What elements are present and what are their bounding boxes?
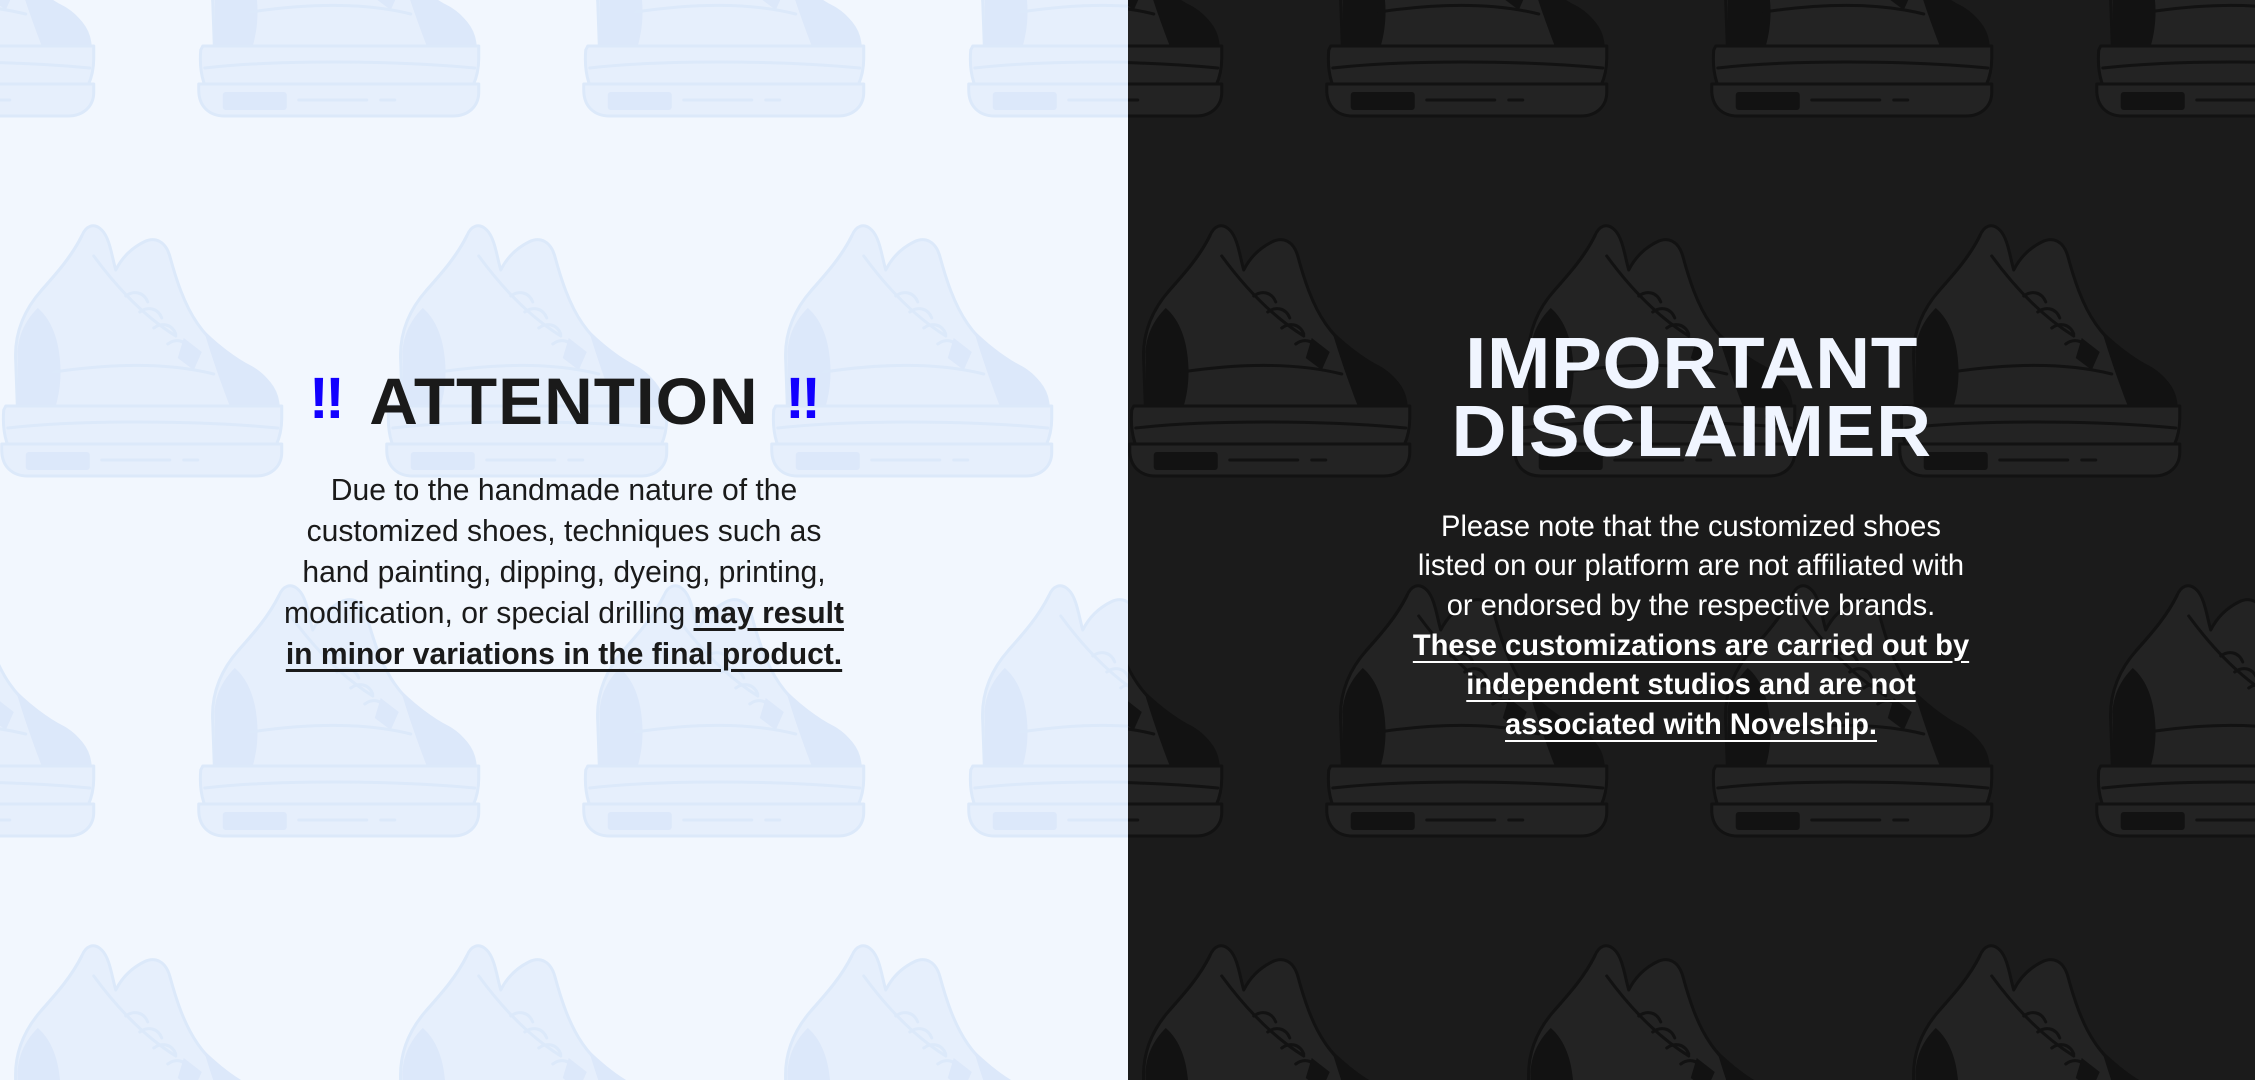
attention-body: Due to the handmade nature of the custom… bbox=[282, 470, 845, 675]
double-exclamation-icon-left: ‼ bbox=[309, 370, 343, 428]
disclaimer-panel: IMPORTANT DISCLAIMER Please note that th… bbox=[1128, 0, 2255, 1080]
disclaimer-body: Please note that the customized shoes li… bbox=[1405, 507, 1977, 745]
disclaimer-heading: IMPORTANT DISCLAIMER bbox=[1451, 330, 1931, 467]
attention-heading: ‼ ATTENTION ‼ bbox=[309, 368, 819, 434]
attention-heading-text: ATTENTION bbox=[369, 368, 758, 434]
double-exclamation-icon-right: ‼ bbox=[785, 370, 819, 428]
disclaimer-banner: ‼ ATTENTION ‼ Due to the handmade nature… bbox=[0, 0, 2255, 1080]
attention-content: ‼ ATTENTION ‼ Due to the handmade nature… bbox=[0, 0, 1128, 1080]
disclaimer-body-emphasis: These customizations are carried out by … bbox=[1413, 629, 1969, 741]
disclaimer-content: IMPORTANT DISCLAIMER Please note that th… bbox=[1128, 0, 2255, 1080]
disclaimer-body-normal: Please note that the customized shoes li… bbox=[1418, 510, 1964, 622]
attention-panel: ‼ ATTENTION ‼ Due to the handmade nature… bbox=[0, 0, 1128, 1080]
disclaimer-heading-line2: DISCLAIMER bbox=[1451, 392, 1931, 472]
